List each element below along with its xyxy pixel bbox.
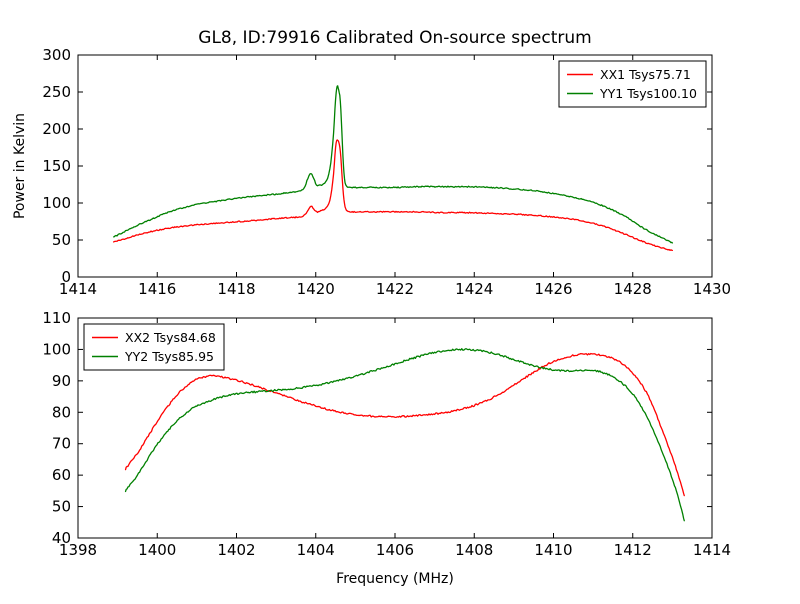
x-tick-label: 1412 xyxy=(614,541,652,559)
x-tick-label: 1416 xyxy=(138,280,176,298)
x-tick-label: 1400 xyxy=(138,541,176,559)
x-tick-label: 1426 xyxy=(534,280,572,298)
legend-label: YY1 Tsys100.10 xyxy=(599,86,697,101)
y-tick-label: 200 xyxy=(42,120,71,138)
x-tick-label: 1418 xyxy=(217,280,255,298)
y-tick-label: 40 xyxy=(52,529,71,547)
y-tick-label: 80 xyxy=(52,403,71,421)
page-title: GL8, ID:79916 Calibrated On-source spect… xyxy=(198,28,591,48)
y-tick-label: 70 xyxy=(52,435,71,453)
legend: XX1 Tsys75.71YY1 Tsys100.10 xyxy=(559,61,706,107)
x-tick-label: 1424 xyxy=(455,280,493,298)
y-tick-label: 150 xyxy=(42,157,71,175)
trace-xx1 xyxy=(114,140,673,250)
y-tick-label: 300 xyxy=(42,46,71,64)
panel-top: 1414141614181420142214241426142814300501… xyxy=(12,28,731,298)
y-tick-label: 60 xyxy=(52,466,71,484)
x-axis-label: Frequency (MHz) xyxy=(336,571,454,587)
x-tick-label: 1404 xyxy=(297,541,335,559)
x-tick-label: 1402 xyxy=(217,541,255,559)
y-tick-label: 100 xyxy=(42,194,71,212)
y-tick-label: 100 xyxy=(42,340,71,358)
x-tick-label: 1406 xyxy=(376,541,414,559)
y-tick-label: 250 xyxy=(42,83,71,101)
x-tick-label: 1414 xyxy=(693,541,731,559)
y-axis-label: Power in Kelvin xyxy=(12,113,28,219)
x-tick-label: 1428 xyxy=(614,280,652,298)
trace-yy2 xyxy=(126,349,685,521)
x-tick-label: 1410 xyxy=(534,541,572,559)
trace-yy1 xyxy=(114,86,673,243)
panel-bottom: 1398140014021404140614081410141214144050… xyxy=(42,309,731,587)
legend-label: YY2 Tsys85.95 xyxy=(124,349,214,364)
x-tick-label: 1422 xyxy=(376,280,414,298)
y-tick-label: 0 xyxy=(61,268,71,286)
figure-canvas: 1414141614181420142214241426142814300501… xyxy=(0,0,800,600)
x-tick-label: 1430 xyxy=(693,280,731,298)
spectrum-figure: 1414141614181420142214241426142814300501… xyxy=(0,0,800,600)
x-tick-label: 1408 xyxy=(455,541,493,559)
y-tick-label: 90 xyxy=(52,372,71,390)
y-tick-label: 110 xyxy=(42,309,71,327)
y-tick-label: 50 xyxy=(52,498,71,516)
legend: XX2 Tsys84.68YY2 Tsys85.95 xyxy=(84,324,224,370)
x-tick-label: 1420 xyxy=(297,280,335,298)
legend-label: XX1 Tsys75.71 xyxy=(600,67,691,82)
legend-label: XX2 Tsys84.68 xyxy=(125,330,216,345)
trace-xx2 xyxy=(126,354,685,496)
y-tick-label: 50 xyxy=(52,231,71,249)
